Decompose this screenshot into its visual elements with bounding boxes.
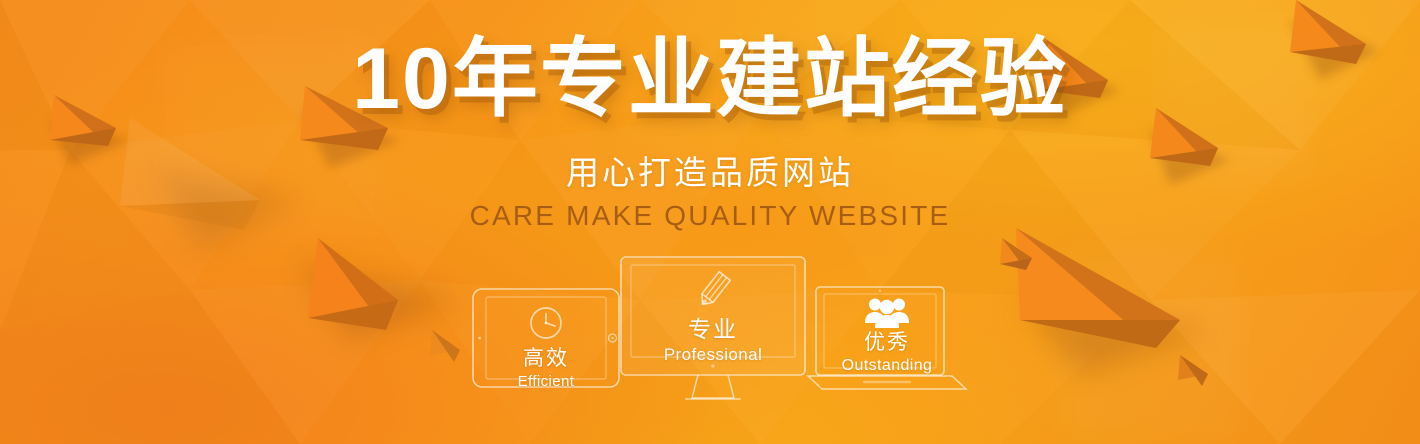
clock-icon [529,306,563,340]
subtitle-english: CARE MAKE QUALITY WEBSITE [0,202,1420,230]
people-group-icon-wrap [806,296,968,328]
people-group-icon [865,296,909,328]
subtitle-chinese: 用心打造品质网站 [0,156,1420,189]
clock-icon-wrap [472,306,620,340]
feature-device-row: 高效 Efficient [0,250,1420,444]
pencil-icon [693,270,733,312]
pencil-icon-wrap [620,270,806,312]
page-title: 10年专业建站经验 [0,36,1420,122]
feature-card-outstanding[interactable]: 优秀 Outstanding [806,286,968,394]
feature-card-professional[interactable]: 专业 Professional [620,256,806,404]
feature-card-efficient[interactable]: 高效 Efficient [472,288,620,388]
promo-banner: 10年专业建站经验 用心打造品质网站 CARE MAKE QUALITY WEB… [0,0,1420,444]
